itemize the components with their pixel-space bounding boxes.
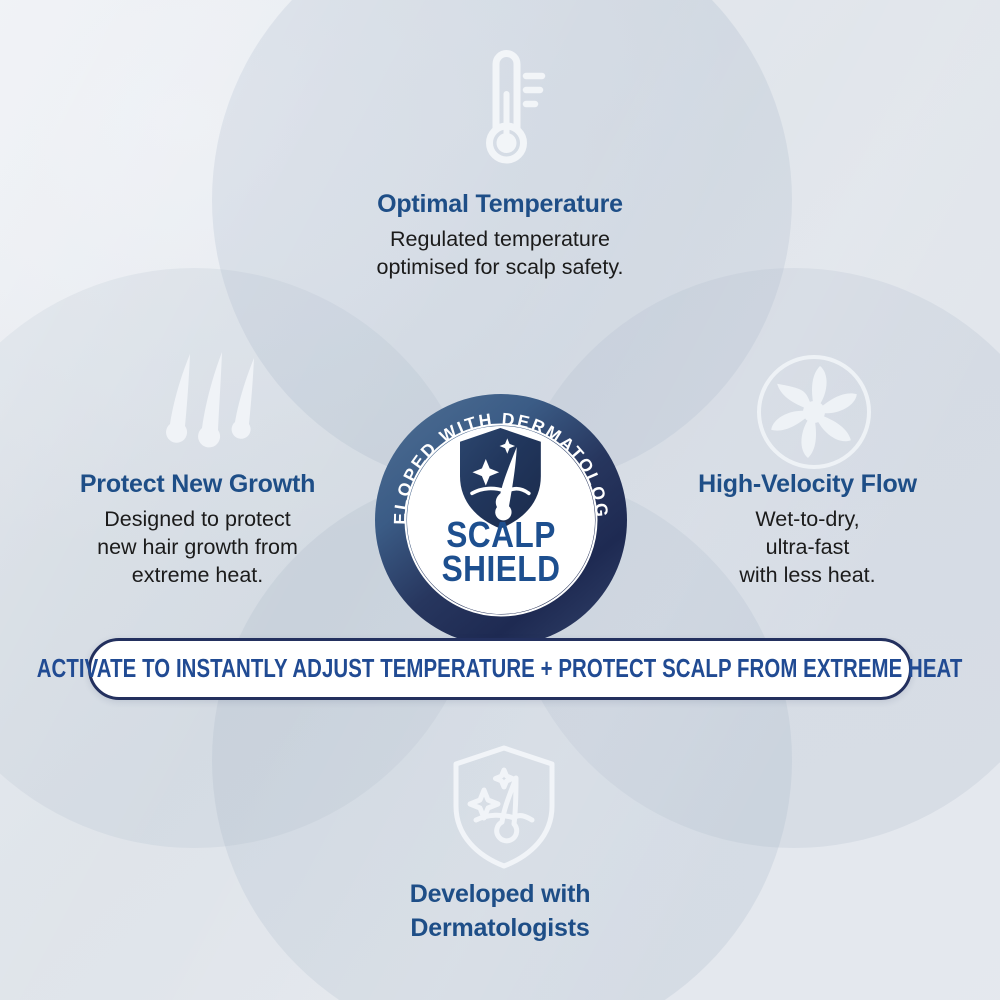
fan-icon [754, 352, 874, 472]
thermometer-icon [468, 42, 546, 170]
feature-body-left: Designed to protect new hair growth from… [25, 506, 370, 590]
feature-developed-with-dermatologists: Developed with Dermatologists [300, 878, 700, 946]
feature-body-line: extreme heat. [132, 563, 263, 587]
feature-body-line: Designed to protect [104, 507, 290, 531]
scalp-shield-badge: DEVELOPED WITH DERMATOLOGISTS STYLIST AP… [373, 392, 629, 648]
feature-high-velocity-flow: High-Velocity Flow Wet-to-dry, ultra-fas… [640, 470, 975, 590]
feature-body-line: with less heat. [739, 563, 875, 587]
feature-body-line: Wet-to-dry, [755, 507, 859, 531]
feature-heading-right: High-Velocity Flow [640, 470, 975, 498]
shield-follicle-icon [446, 744, 562, 870]
feature-body-line: ultra-fast [766, 535, 850, 559]
feature-body-right: Wet-to-dry, ultra-fast with less heat. [640, 506, 975, 590]
infographic-canvas: Optimal Temperature Regulated temperatur… [0, 0, 1000, 1000]
feature-optimal-temperature: Optimal Temperature Regulated temperatur… [250, 190, 750, 282]
feature-body-top: Regulated temperature optimised for scal… [250, 226, 750, 282]
feature-body-line: Regulated temperature [390, 227, 610, 251]
feature-body-line: new hair growth from [97, 535, 298, 559]
activate-banner-text: ACTIVATE TO INSTANTLY ADJUST TEMPERATURE… [37, 655, 963, 684]
activate-banner: ACTIVATE TO INSTANTLY ADJUST TEMPERATURE… [88, 638, 912, 700]
feature-heading-left: Protect New Growth [25, 470, 370, 498]
hair-follicles-icon [160, 352, 268, 462]
feature-protect-new-growth: Protect New Growth Designed to protect n… [25, 470, 370, 590]
feature-heading-top: Optimal Temperature [250, 190, 750, 218]
feature-body-line: optimised for scalp safety. [377, 255, 624, 279]
feature-heading-bottom: Developed with Dermatologists [300, 878, 700, 946]
feature-heading-line: Dermatologists [410, 914, 589, 942]
feature-heading-line: Developed with [410, 880, 591, 908]
